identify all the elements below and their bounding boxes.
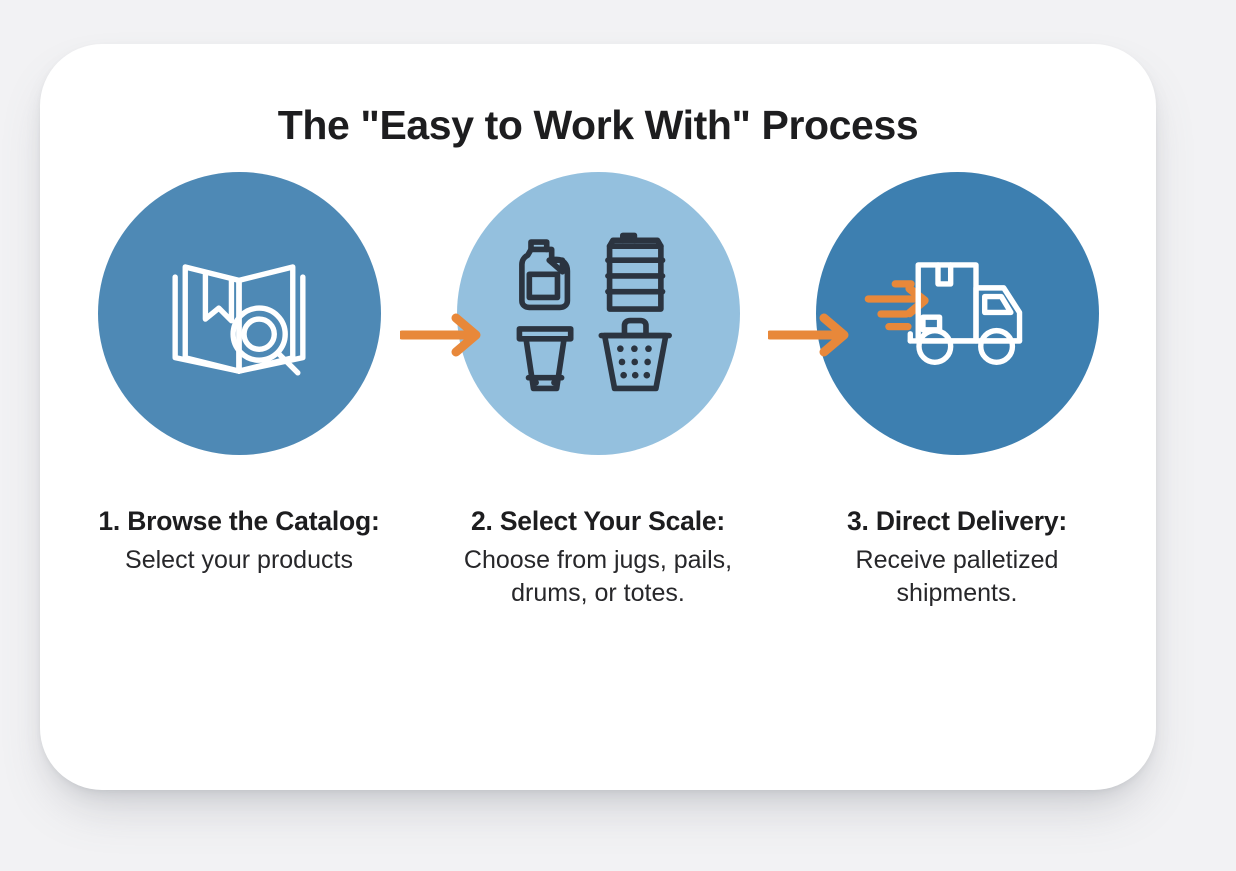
step-1-caption-title: 1. Browse the Catalog: bbox=[74, 505, 404, 537]
step-1-caption-desc: Select your products bbox=[109, 544, 369, 577]
step-1-icon-circle bbox=[98, 172, 381, 455]
containers-jug-drum-pail-tote-icon bbox=[507, 223, 689, 405]
step-2-caption-desc: Choose from jugs, pails, drums, or totes… bbox=[439, 544, 757, 609]
infographic-canvas: The "Easy to Work With" Process bbox=[0, 0, 1236, 871]
process-step-3: 3. Direct Delivery: Receive palletized s… bbox=[788, 172, 1126, 609]
delivery-truck-icon bbox=[862, 219, 1052, 409]
process-card: The "Easy to Work With" Process bbox=[40, 44, 1156, 790]
step-2-icon-circle bbox=[457, 172, 740, 455]
step-3-icon-circle bbox=[816, 172, 1099, 455]
step-3-caption: 3. Direct Delivery: Receive palletized s… bbox=[792, 505, 1122, 609]
step-3-caption-title: 3. Direct Delivery: bbox=[792, 505, 1122, 537]
process-steps-row: 1. Browse the Catalog: Select your produ… bbox=[70, 172, 1126, 609]
step-1-caption: 1. Browse the Catalog: Select your produ… bbox=[74, 505, 404, 577]
step-3-caption-desc: Receive palletized shipments. bbox=[812, 544, 1102, 609]
step-2-caption: 2. Select Your Scale: Choose from jugs, … bbox=[433, 505, 763, 609]
book-search-icon bbox=[155, 230, 323, 398]
page-title: The "Easy to Work With" Process bbox=[40, 102, 1156, 149]
step-2-caption-title: 2. Select Your Scale: bbox=[433, 505, 763, 537]
process-step-1: 1. Browse the Catalog: Select your produ… bbox=[70, 172, 408, 577]
process-step-2: 2. Select Your Scale: Choose from jugs, … bbox=[429, 172, 767, 609]
